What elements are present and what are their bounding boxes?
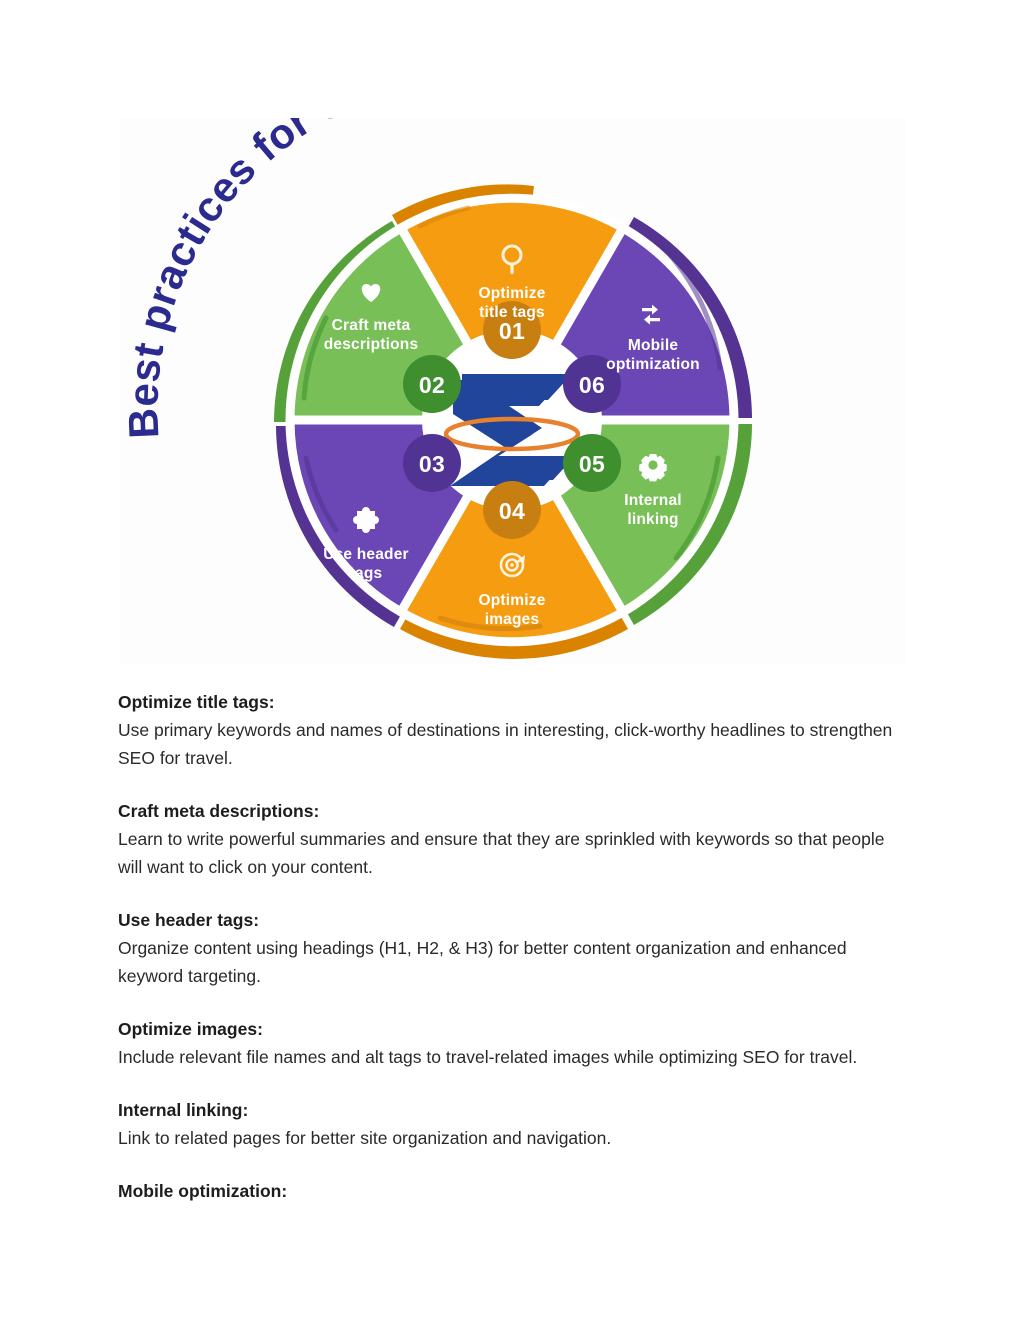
- tip-body: Include relevant file names and alt tags…: [118, 1043, 908, 1071]
- segment-label-line: Optimize: [478, 592, 545, 609]
- segment-label-line: Optimize: [478, 285, 545, 302]
- tip-block: Optimize title tags: Use primary keyword…: [118, 688, 908, 772]
- tip-block: Internal linking: Link to related pages …: [118, 1096, 908, 1152]
- segment-label-line: Use header: [323, 546, 409, 563]
- tip-heading: Optimize images:: [118, 1015, 908, 1043]
- tip-heading: Optimize title tags:: [118, 688, 908, 716]
- tip-body: Learn to write powerful summaries and en…: [118, 825, 908, 881]
- tip-block: Craft meta descriptions: Learn to write …: [118, 797, 908, 881]
- badge-05-label: 05: [579, 451, 605, 477]
- badge-03[interactable]: 03: [403, 434, 461, 492]
- tip-body: Organize content using headings (H1, H2,…: [118, 934, 908, 990]
- tip-heading: Internal linking:: [118, 1096, 908, 1124]
- seo-tips-article: Optimize title tags: Use primary keyword…: [118, 688, 908, 1205]
- segment-label-line: tags: [350, 565, 383, 582]
- segment-label-line: optimization: [606, 356, 700, 373]
- tip-block: Use header tags: Organize content using …: [118, 906, 908, 990]
- badge-03-label: 03: [419, 451, 445, 477]
- segment-label-line: title tags: [479, 304, 545, 321]
- badge-04-label: 04: [499, 498, 525, 524]
- tip-heading: Craft meta descriptions:: [118, 797, 908, 825]
- tip-block: Mobile optimization:: [118, 1177, 908, 1205]
- segment-label-line: linking: [627, 511, 678, 528]
- tip-heading: Use header tags:: [118, 906, 908, 934]
- badge-05[interactable]: 05: [563, 434, 621, 492]
- badge-06-label: 06: [579, 372, 605, 398]
- gear-icon: [639, 454, 666, 481]
- tip-block: Optimize images: Include relevant file n…: [118, 1015, 908, 1071]
- tip-heading: Mobile optimization:: [118, 1177, 908, 1205]
- segment-label-line: images: [485, 611, 540, 628]
- seo-infographic-figure: 01 02 03 04 05 06: [120, 118, 906, 663]
- segment-label-line: Craft meta: [332, 317, 411, 334]
- segment-label-line: Mobile: [628, 337, 678, 354]
- segment-label-line: descriptions: [324, 336, 419, 353]
- tip-body: Use primary keywords and names of destin…: [118, 716, 908, 772]
- badge-02-label: 02: [419, 372, 445, 398]
- badge-02[interactable]: 02: [403, 355, 461, 413]
- tip-body: Link to related pages for better site or…: [118, 1124, 908, 1152]
- segment-label-line: Internal: [624, 492, 682, 509]
- badge-04[interactable]: 04: [483, 481, 541, 539]
- badge-01-label: 01: [499, 318, 525, 344]
